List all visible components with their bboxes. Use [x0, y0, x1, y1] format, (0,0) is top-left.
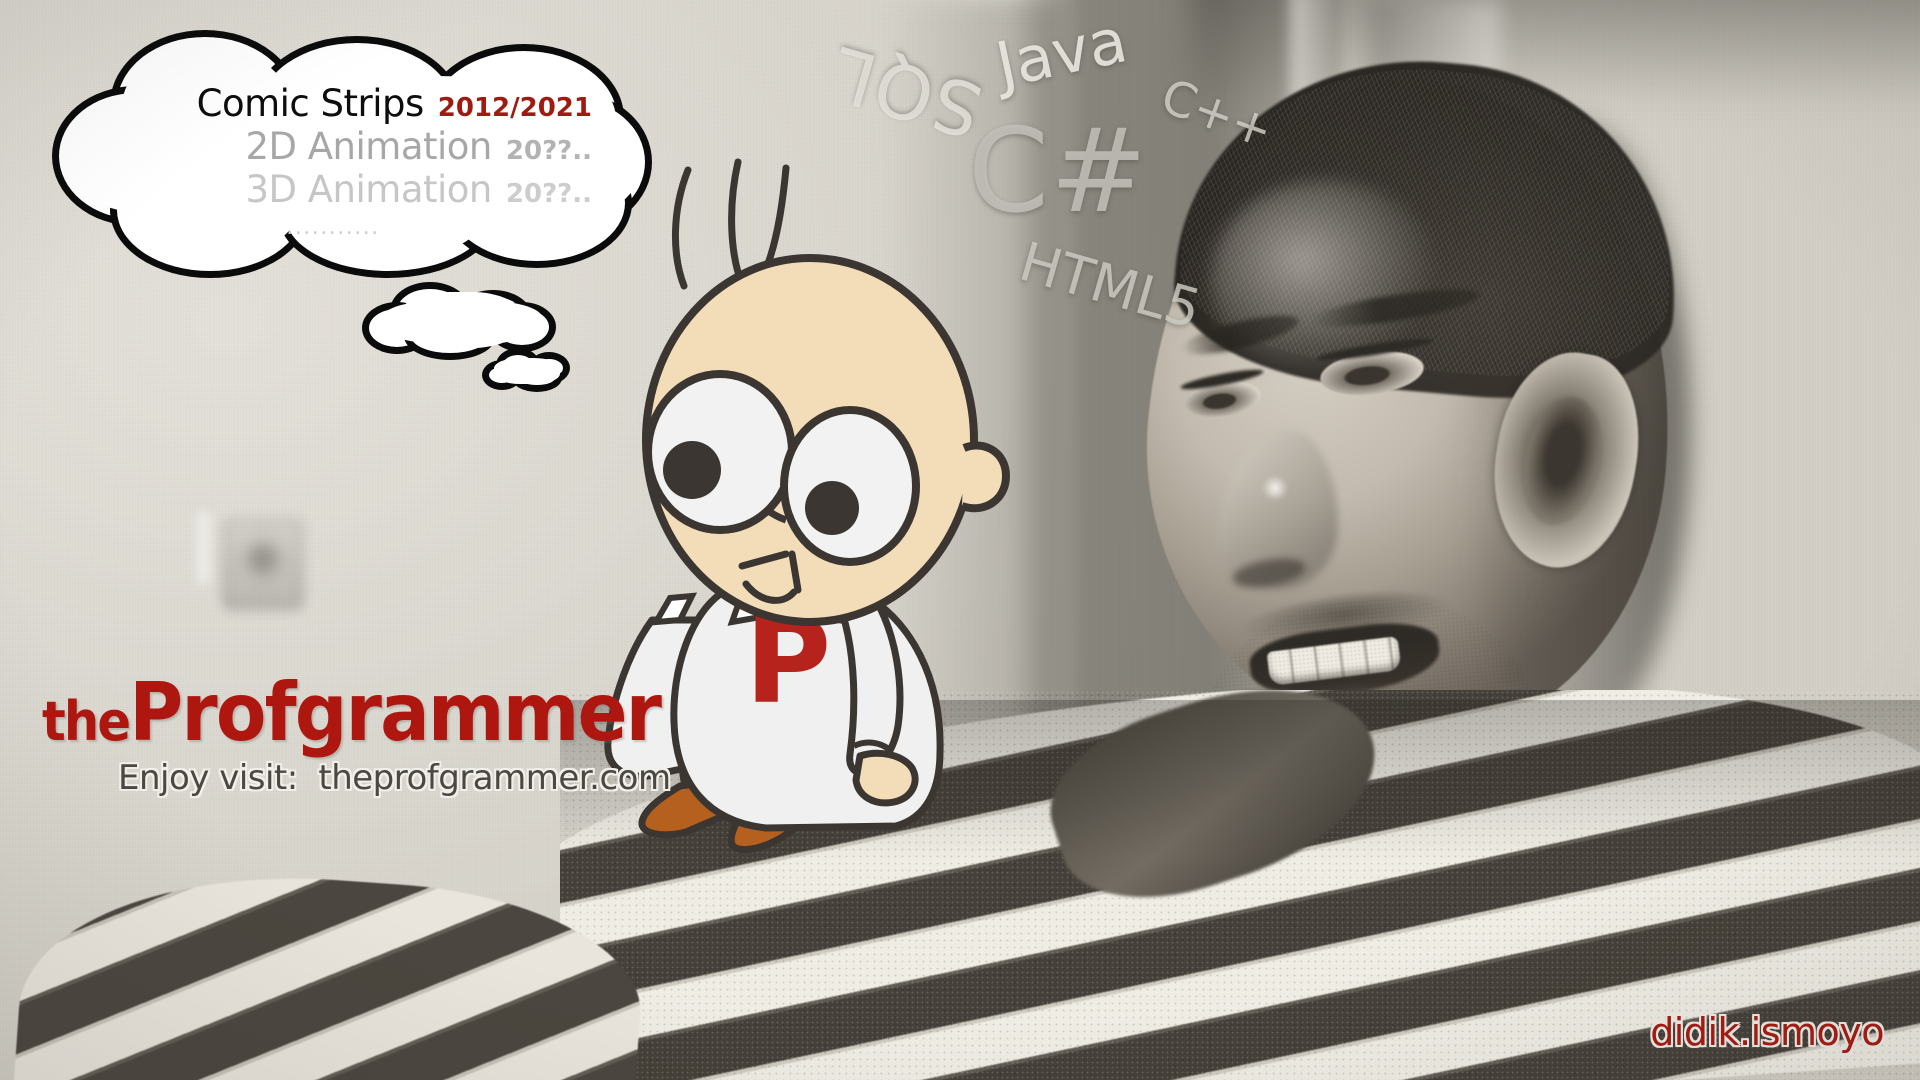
artist-signature: didik.ismoyo: [1650, 1010, 1884, 1054]
bubble-row-year: 20??..: [506, 179, 592, 209]
socket-highlight: [198, 512, 216, 584]
mascot-hair-strand-2: [732, 162, 742, 284]
mascot-eye-right: [784, 410, 916, 562]
mascot-coat-sleeve-right: [842, 600, 900, 773]
tagline-url[interactable]: theprofgrammer.com: [318, 758, 670, 798]
mascot-hair-strand-1: [675, 170, 688, 286]
bubble-row-year: 2012/2021: [438, 93, 592, 123]
bubble-row-title: 3D Animation: [245, 168, 491, 211]
logo-the: the: [42, 690, 129, 753]
mascot-pupil-right: [805, 481, 859, 535]
brand-logo: theProfgrammer: [42, 666, 660, 759]
mascot-pupil-left: [663, 441, 721, 499]
bubble-row-title: Comic Strips: [197, 82, 424, 125]
bubble-row-2d-animation: 2D Animation 20??..: [132, 125, 592, 168]
bubble-ellipsis: ...........: [132, 215, 592, 240]
thought-cloud-small: [482, 348, 574, 398]
cloud-fill-2: [400, 292, 520, 348]
mascot-hand: [856, 753, 915, 803]
photo-forehead-highlight: [1210, 180, 1440, 380]
brand-tagline: Enjoy visit: theprofgrammer.com: [118, 758, 671, 798]
thought-bubble-text: Comic Strips 2012/2021 2D Animation 20??…: [132, 82, 592, 240]
bubble-row-title: 2D Animation: [245, 125, 491, 168]
photo-nose-highlight: [1262, 475, 1288, 501]
poster-canvas: SQL Java C++ C# HTML5 P: [0, 0, 1920, 1080]
cloud-fill: [494, 358, 560, 384]
bubble-row-year: 20??..: [506, 136, 592, 166]
logo-name: Profgrammer: [129, 666, 660, 759]
tagline-prefix: Enjoy visit:: [118, 758, 298, 798]
power-outlet-icon: [222, 518, 304, 610]
mascot-ear: [962, 446, 1006, 509]
thought-bubble-main: Comic Strips 2012/2021 2D Animation 20??…: [52, 30, 652, 278]
bubble-row-comic-strips: Comic Strips 2012/2021: [132, 82, 592, 125]
bubble-row-3d-animation: 3D Animation 20??..: [132, 168, 592, 211]
